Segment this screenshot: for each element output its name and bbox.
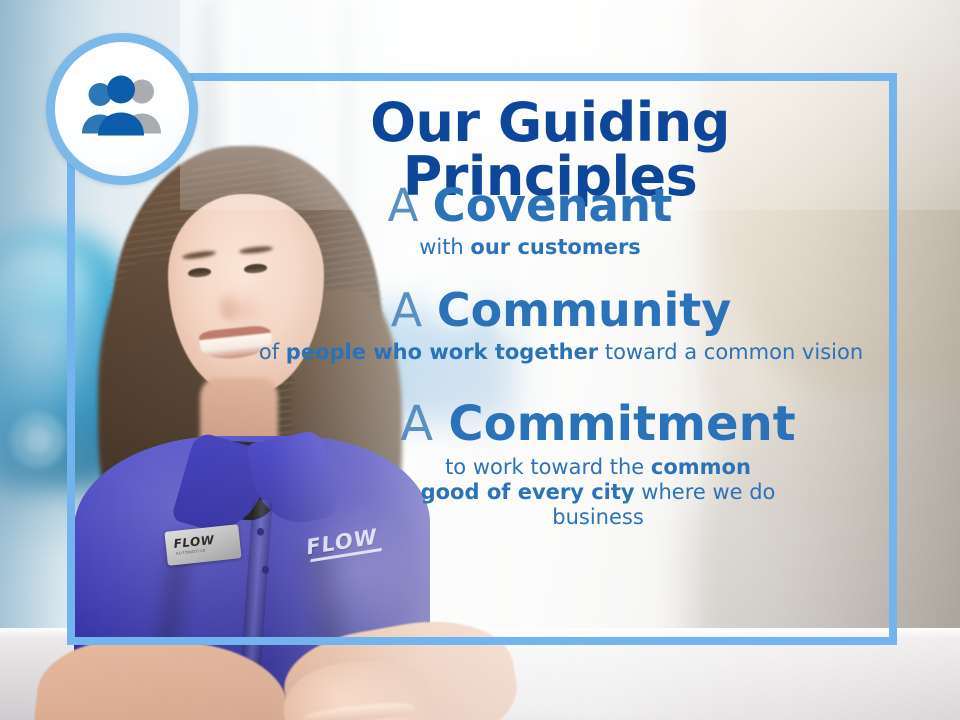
principle-community: A Community of people who work together …: [242, 286, 880, 365]
principle-heading: A Community: [242, 286, 880, 335]
principle-article: A: [388, 179, 419, 232]
principle-covenant: A Covenant with our customers: [180, 182, 880, 260]
subtext-lead: to work toward the: [445, 455, 651, 479]
people-badge: [46, 33, 198, 185]
principle-heading: A Commitment: [316, 399, 880, 450]
principle-keyword: Commitment: [448, 396, 795, 452]
principles-list: A Covenant with our customers A Communit…: [180, 182, 880, 552]
subtext-emphasis: people who work together: [286, 340, 598, 364]
subtext-tail: toward a common vision: [598, 340, 863, 364]
principle-article: A: [400, 396, 433, 452]
principle-article: A: [391, 283, 422, 337]
subtext-lead: of: [259, 340, 286, 364]
subtext-lead: with: [419, 235, 470, 259]
principle-subtext: to work toward the common good of every …: [418, 455, 778, 531]
people-group-icon: [76, 76, 168, 143]
principle-commitment: A Commitment to work toward the common g…: [316, 399, 880, 530]
principle-subtext: with our customers: [180, 235, 880, 260]
guiding-principles-poster: FLOW AUTOMOTIVE FLOW: [0, 0, 960, 720]
principle-heading: A Covenant: [180, 182, 880, 230]
principle-keyword: Community: [437, 283, 731, 337]
principle-subtext: of people who work together toward a com…: [242, 340, 880, 365]
principle-keyword: Covenant: [433, 179, 673, 232]
subtext-emphasis: our customers: [470, 235, 640, 259]
